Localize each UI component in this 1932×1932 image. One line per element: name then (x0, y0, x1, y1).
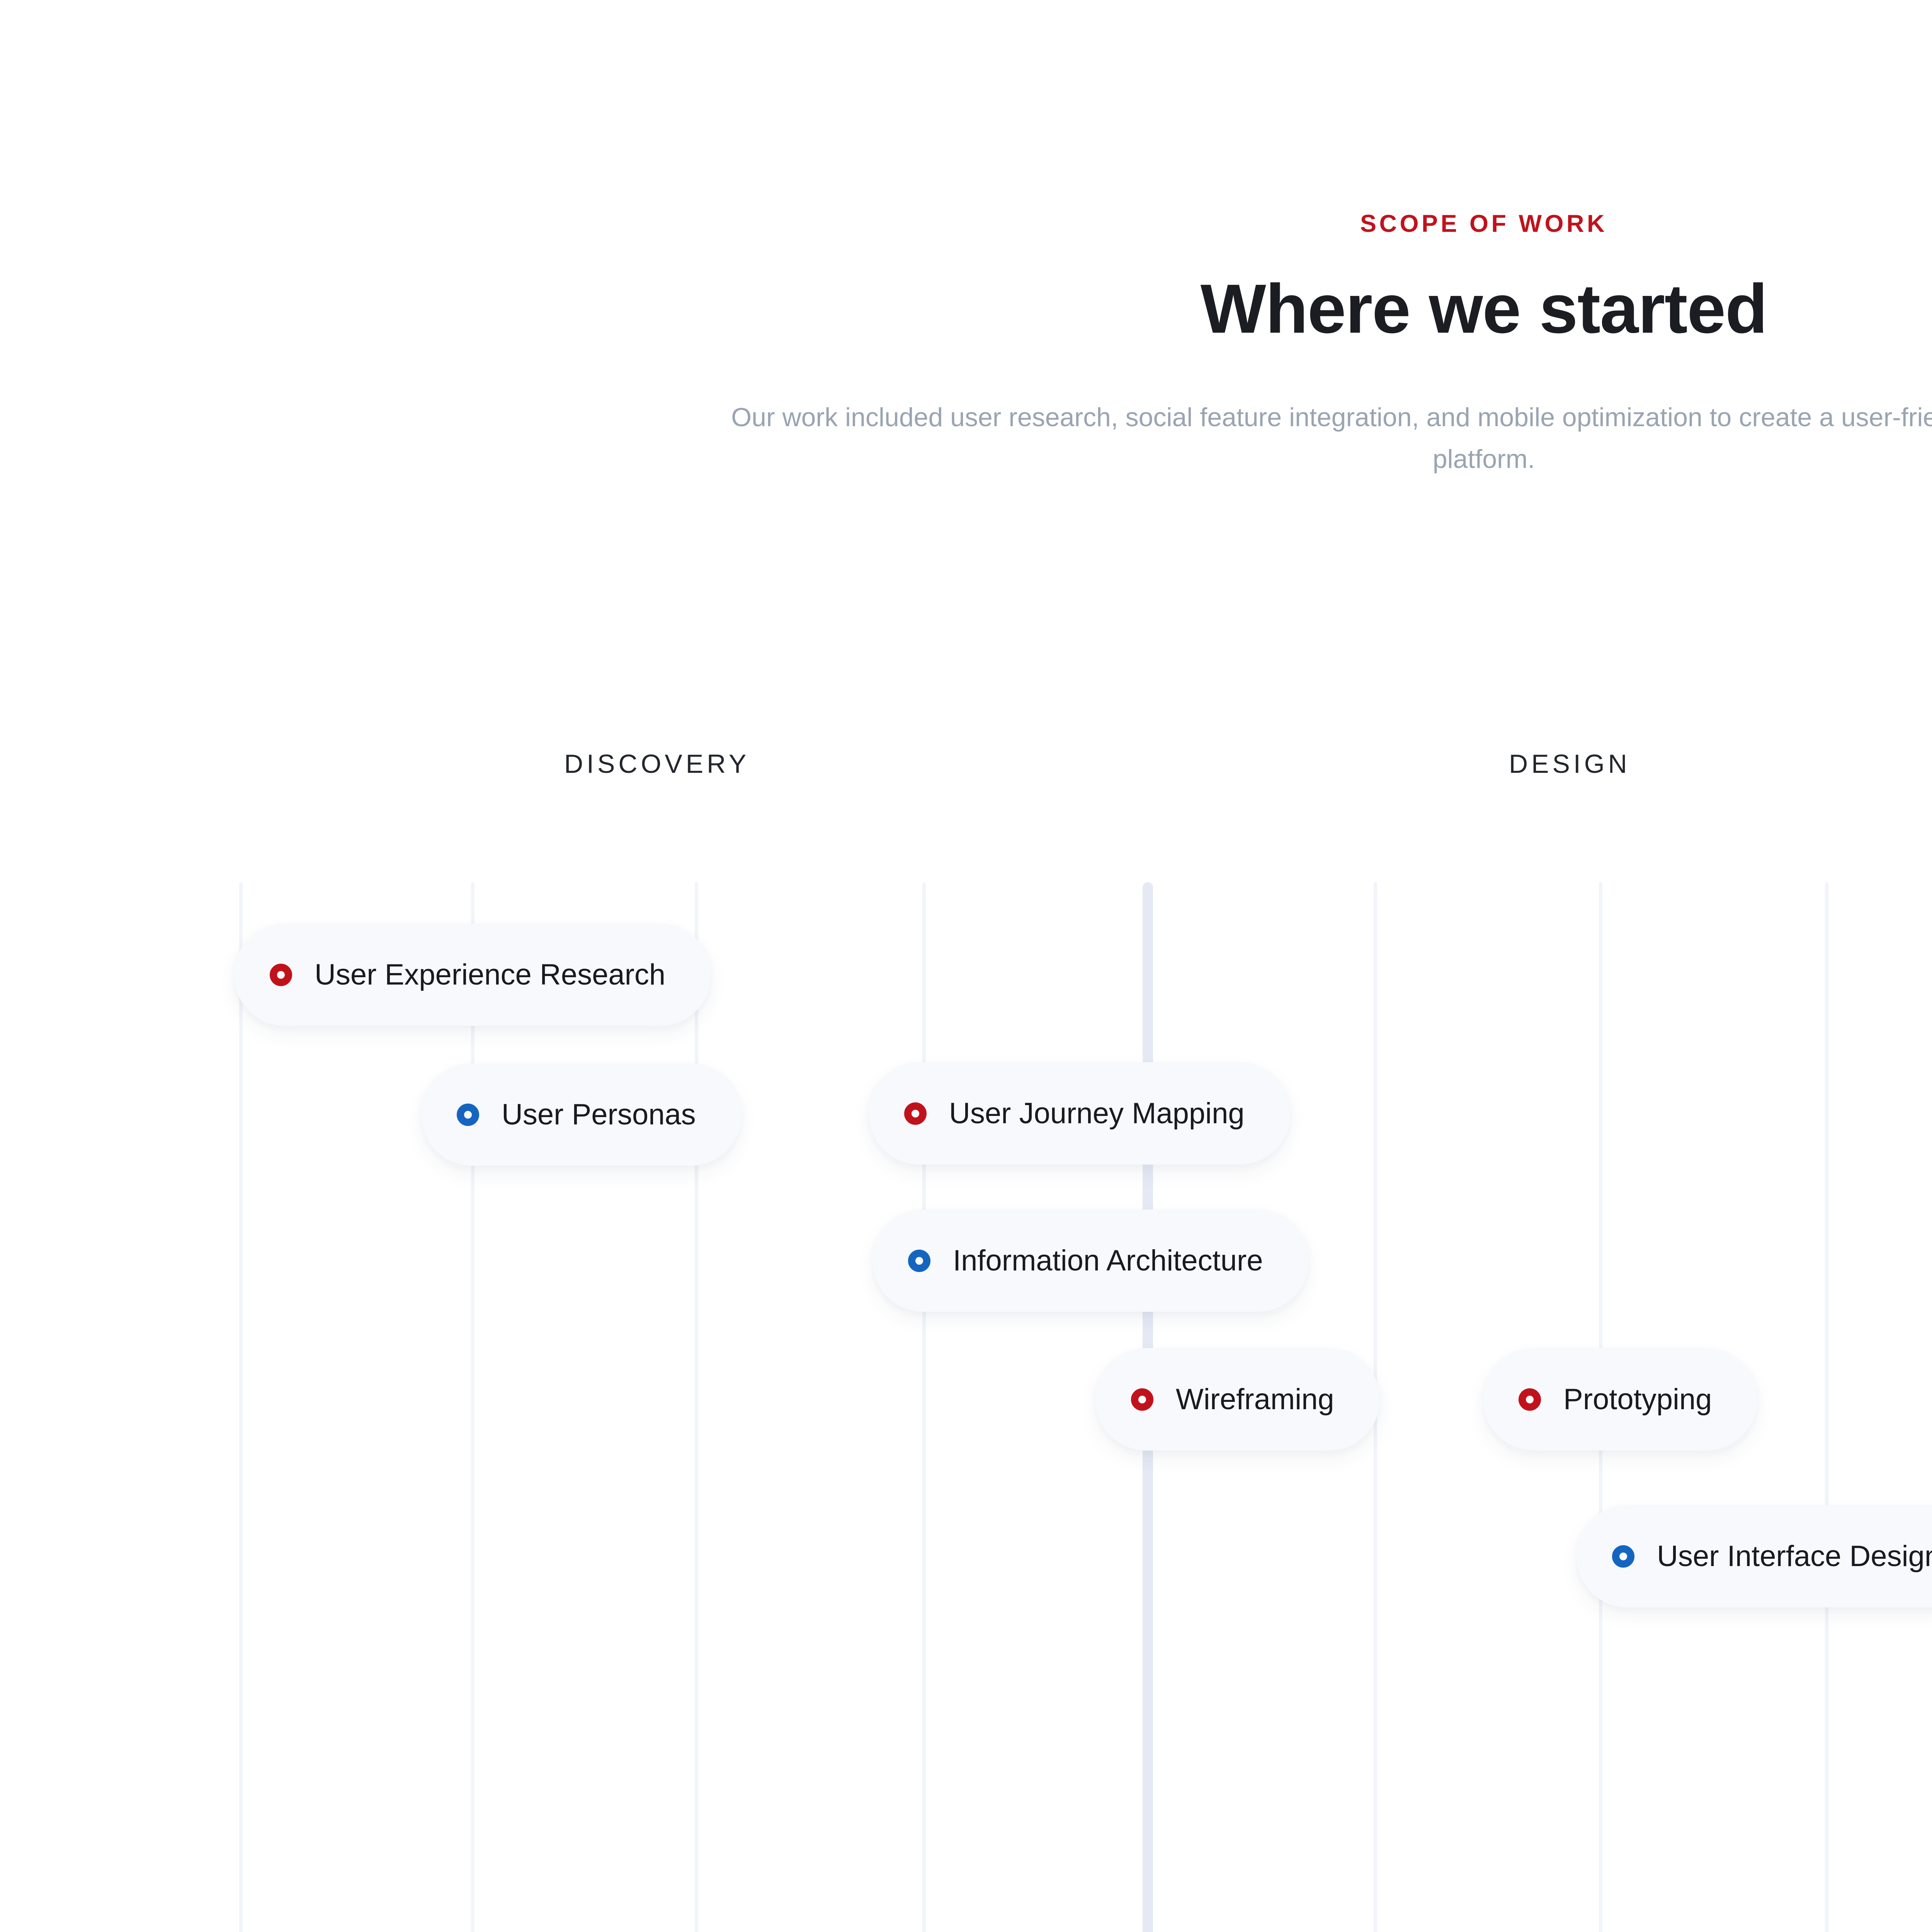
page-header: SCOPE OF WORK Where we started Our work … (0, 0, 1932, 480)
ring-icon-red (1131, 1388, 1153, 1411)
timeline-item[interactable]: Prototyping (1483, 1348, 1757, 1451)
timeline-item-label: Prototyping (1563, 1385, 1712, 1414)
section-eyebrow: SCOPE OF WORK (0, 211, 1932, 237)
ring-icon-blue (908, 1250, 930, 1272)
timeline-item[interactable]: User Personas (421, 1063, 742, 1166)
page-subtitle: Our work included user research, social … (726, 397, 1932, 480)
ring-icon-blue (457, 1104, 479, 1126)
ring-icon-red (1519, 1388, 1541, 1411)
timeline-item-label: User Experience Research (315, 960, 665, 990)
timeline-item-label: Information Architecture (953, 1246, 1263, 1276)
timeline-item[interactable]: User Experience Research (234, 923, 711, 1026)
ring-icon-red (904, 1102, 927, 1125)
phase-label-row: DISCOVERYDESIGNPRODUCT (0, 749, 1932, 791)
timeline-item-label: User Interface Design (1657, 1542, 1932, 1571)
ring-icon-red (270, 964, 292, 986)
ring-icon-blue (1612, 1545, 1634, 1568)
grid-line (239, 882, 243, 1932)
page-title: Where we started (0, 272, 1932, 345)
grid-line (1825, 882, 1828, 1932)
timeline-item-label: User Personas (502, 1100, 696, 1129)
grid-line (922, 882, 926, 1932)
timeline-item[interactable]: Information Architecture (872, 1209, 1309, 1312)
phase-label-design: DESIGN (1509, 749, 1631, 779)
phase-label-discovery: DISCOVERY (564, 749, 750, 779)
timeline-item-label: Wireframing (1176, 1385, 1334, 1414)
timeline-item-label: User Journey Mapping (949, 1099, 1245, 1128)
timeline-item[interactable]: Wireframing (1095, 1348, 1380, 1451)
timeline-item[interactable]: User Journey Mapping (869, 1062, 1290, 1165)
grid-line (471, 882, 474, 1932)
grid-line (695, 882, 698, 1932)
timeline-item[interactable]: User Interface Design (1577, 1505, 1932, 1607)
